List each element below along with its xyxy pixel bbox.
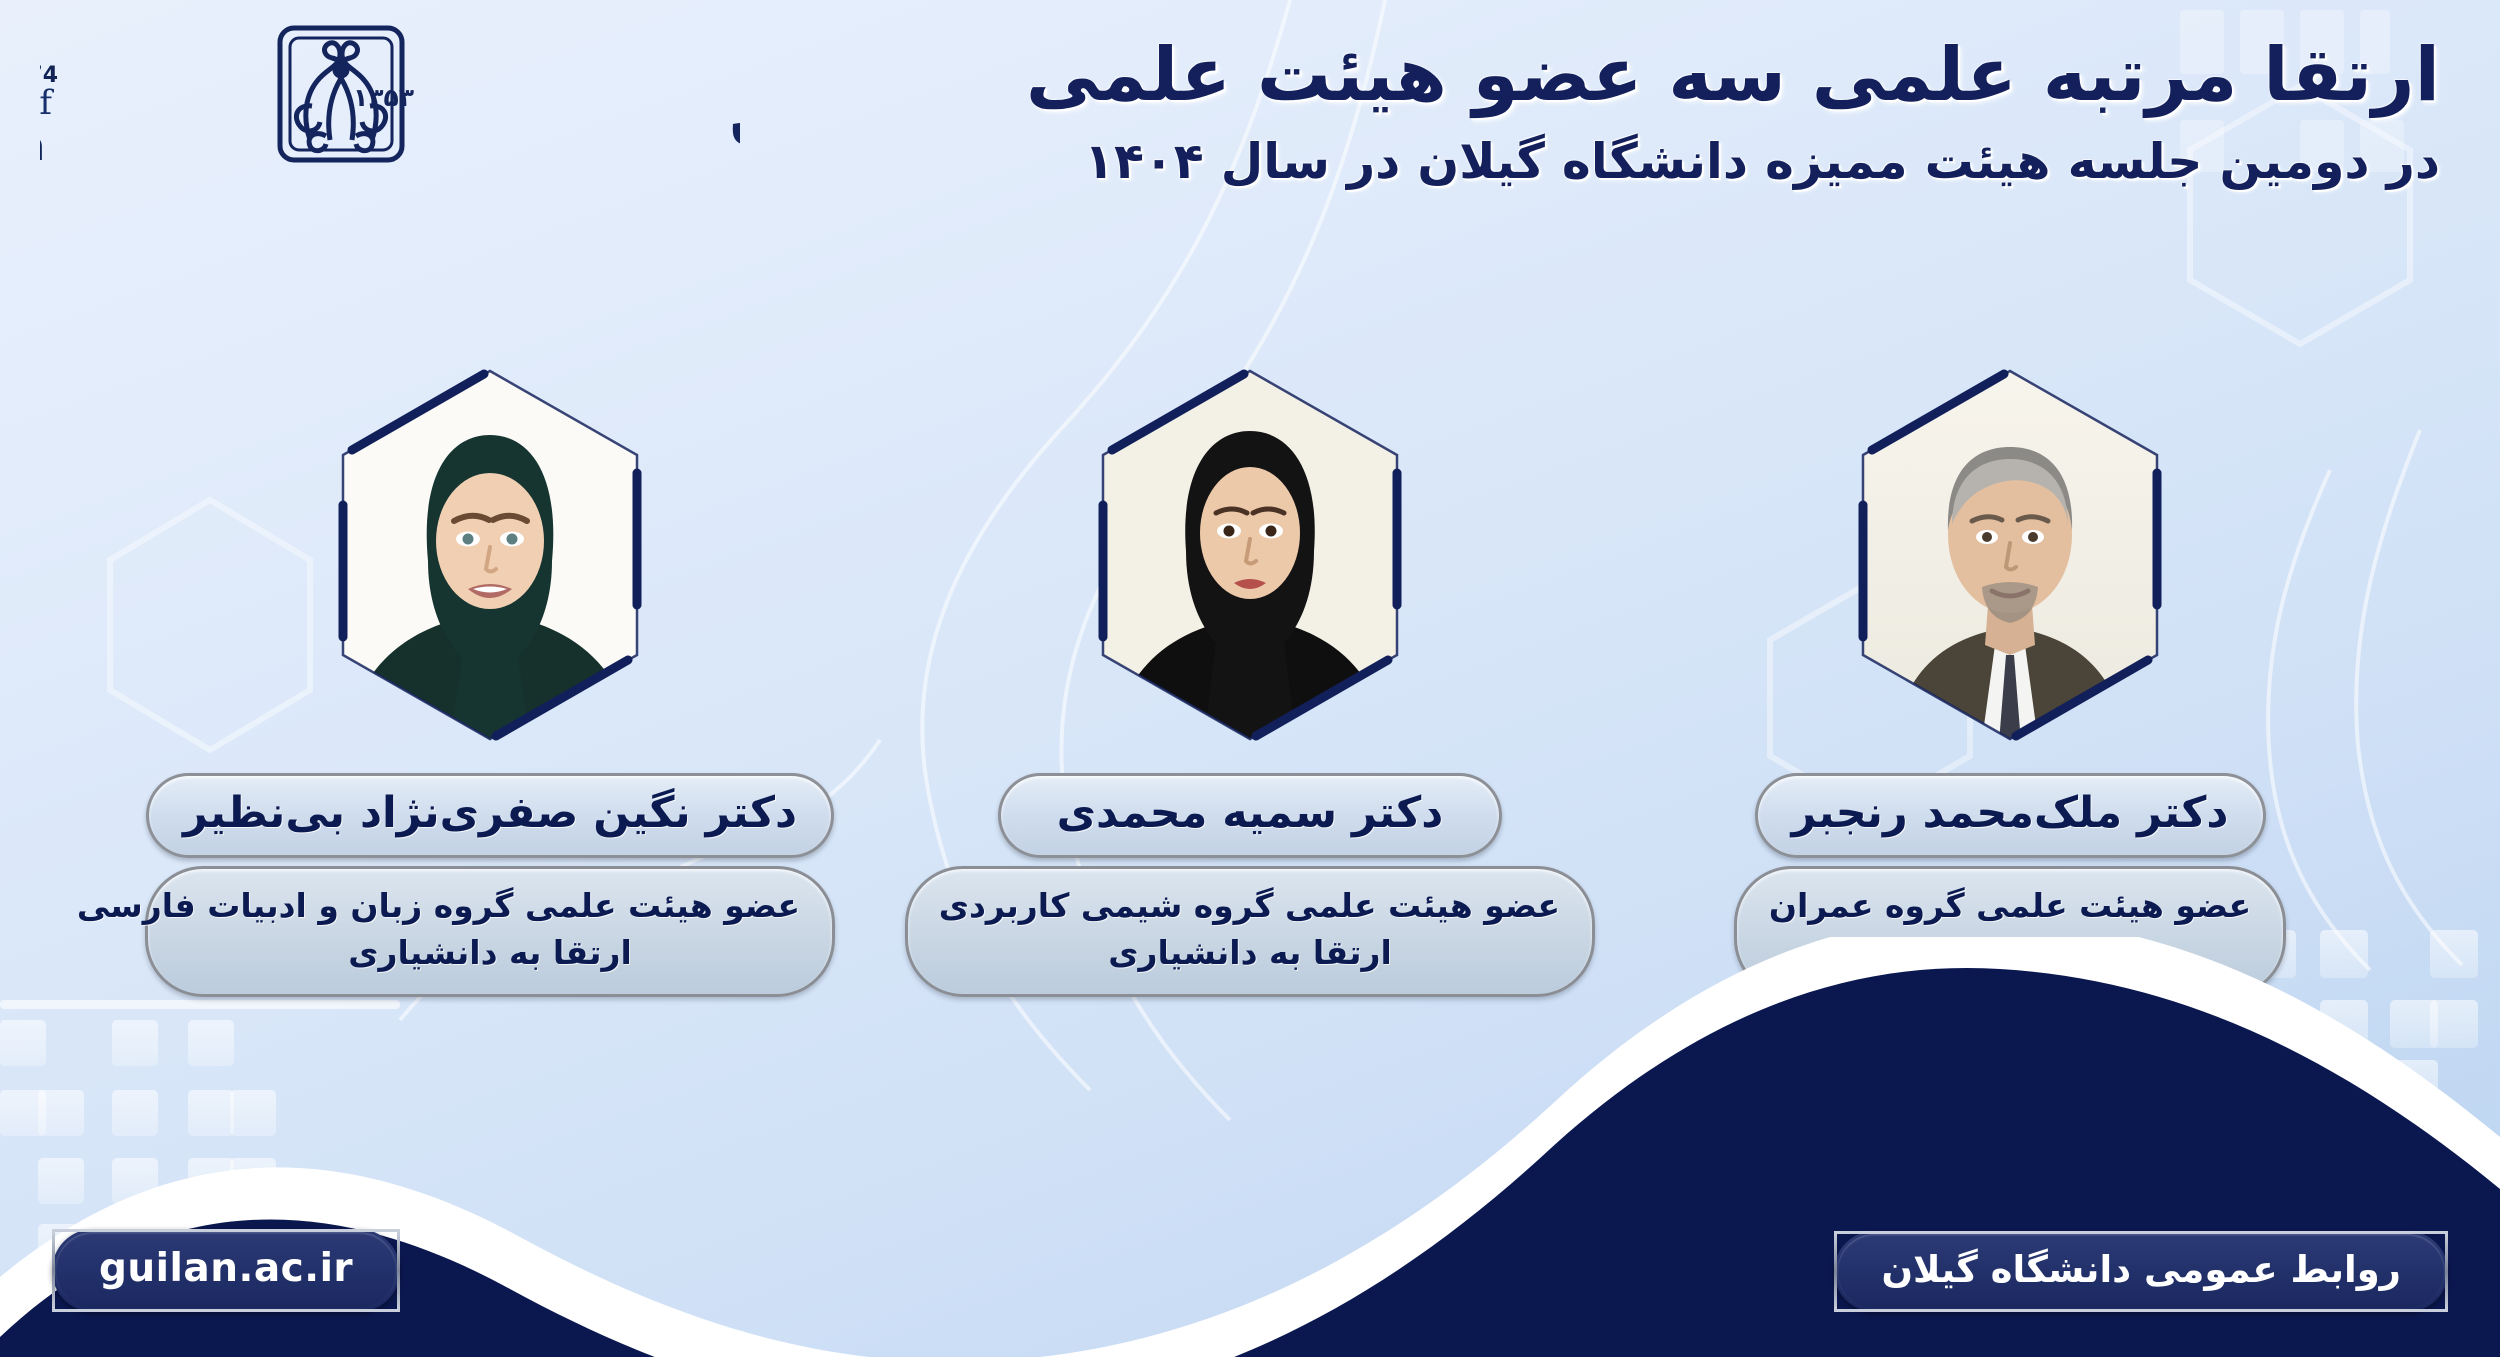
faculty-list: دکتر ملک‌محمد رنجبر عضو هیئت علمی گروه ع… bbox=[0, 355, 2500, 997]
faculty-role: عضو هیئت علمی گروه زبان و ادبیات فارسی ا… bbox=[145, 866, 835, 998]
faculty-department: عضو هیئت علمی گروه شیمی کاربردی bbox=[940, 883, 1560, 930]
portrait-hexagon-frame bbox=[1830, 355, 2190, 755]
faculty-card: دکتر نگین صفری‌نژاد بی‌نظیر عضو هیئت علم… bbox=[170, 355, 810, 997]
public-relations-badge: روابط عمومی دانشگاه گیلان bbox=[1834, 1231, 2448, 1312]
poster-canvas: 1974 University of Guilan ۱۳۵۳ دانشگاه گ… bbox=[0, 0, 2500, 1357]
portrait-hexagon-frame bbox=[310, 355, 670, 755]
faculty-department: عضو هیئت علمی گروه عمران bbox=[1769, 883, 2251, 930]
portrait-hexagon-frame bbox=[1070, 355, 1430, 755]
faculty-card: دکتر سمیه محمدی عضو هیئت علمی گروه شیمی … bbox=[930, 355, 1570, 997]
faculty-name: دکتر سمیه محمدی bbox=[998, 773, 1502, 858]
university-logo: 1974 University of Guilan ۱۳۵۳ دانشگاه گ… bbox=[40, 10, 740, 180]
faculty-promotion: ارتقا به استادی bbox=[1769, 930, 2251, 977]
logo-guilan-text: Guilan bbox=[40, 124, 54, 170]
portrait-hexagon-svg bbox=[1830, 355, 2190, 755]
logo-year-fa-text: ۱۳۵۳ bbox=[353, 83, 414, 112]
faculty-role: عضو هیئت علمی گروه شیمی کاربردی ارتقا به… bbox=[905, 866, 1595, 998]
faculty-role: عضو هیئت علمی گروه عمران ارتقا به استادی bbox=[1734, 866, 2286, 998]
headline-block: ارتقا مرتبه علمی سه عضو هیئت علمی در دوم… bbox=[940, 30, 2440, 194]
portrait-hexagon-svg bbox=[1070, 355, 1430, 755]
logo-university-of-text: University of bbox=[40, 83, 54, 123]
faculty-card: دکتر ملک‌محمد رنجبر عضو هیئت علمی گروه ع… bbox=[1690, 355, 2330, 997]
faculty-department: عضو هیئت علمی گروه زبان و ادبیات فارسی bbox=[180, 883, 800, 930]
logo-svg: 1974 University of Guilan ۱۳۵۳ دانشگاه گ… bbox=[40, 10, 740, 180]
page-subtitle: در دومین جلسه هیئت ممیزه دانشگاه گیلان د… bbox=[940, 130, 2440, 194]
page-title: ارتقا مرتبه علمی سه عضو هیئت علمی bbox=[940, 30, 2440, 120]
website-badge[interactable]: guilan.ac.ir bbox=[52, 1229, 400, 1312]
faculty-name: دکتر ملک‌محمد رنجبر bbox=[1755, 773, 2266, 858]
faculty-promotion: ارتقا به دانشیاری bbox=[940, 930, 1560, 977]
faculty-promotion: ارتقا به دانشیاری bbox=[180, 930, 800, 977]
logo-fa-wordmark-text: دانشگاه گیلان bbox=[723, 37, 740, 152]
decorative-bar-left bbox=[0, 1000, 400, 1009]
faculty-name: دکتر نگین صفری‌نژاد بی‌نظیر bbox=[146, 773, 834, 858]
portrait-hexagon-svg bbox=[310, 355, 670, 755]
